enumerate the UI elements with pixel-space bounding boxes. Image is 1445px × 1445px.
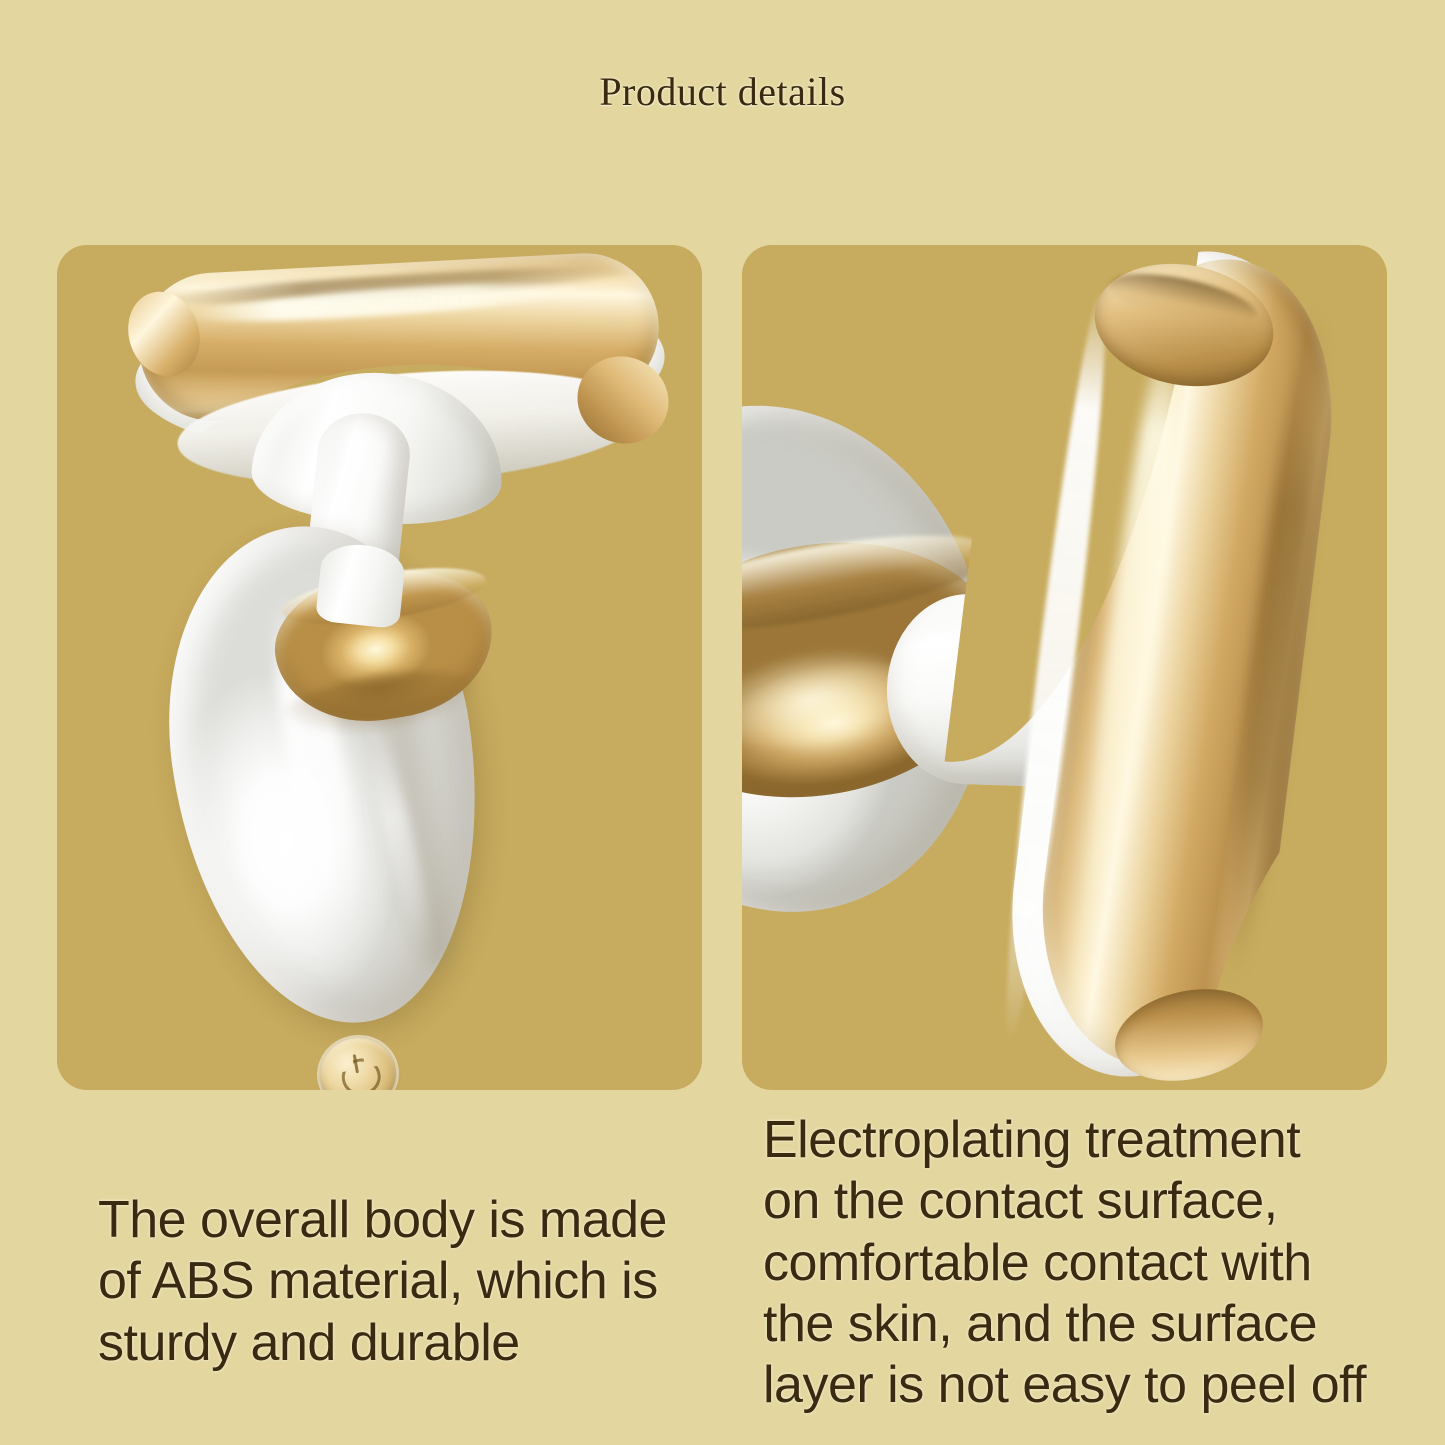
product-image-panel-right[interactable] — [742, 245, 1387, 1090]
product-details-page: Product details — [0, 0, 1445, 1445]
electroplated-head-closeup-image — [742, 245, 1387, 1090]
page-title: Product details — [0, 68, 1445, 115]
caption-right: Electroplating treatment on the contact … — [763, 1110, 1403, 1417]
neck-massager-full-view-image — [57, 245, 702, 1090]
caption-left: The overall body is made of ABS material… — [98, 1190, 708, 1374]
power-icon — [335, 1050, 381, 1090]
product-image-panel-left[interactable] — [57, 245, 702, 1090]
